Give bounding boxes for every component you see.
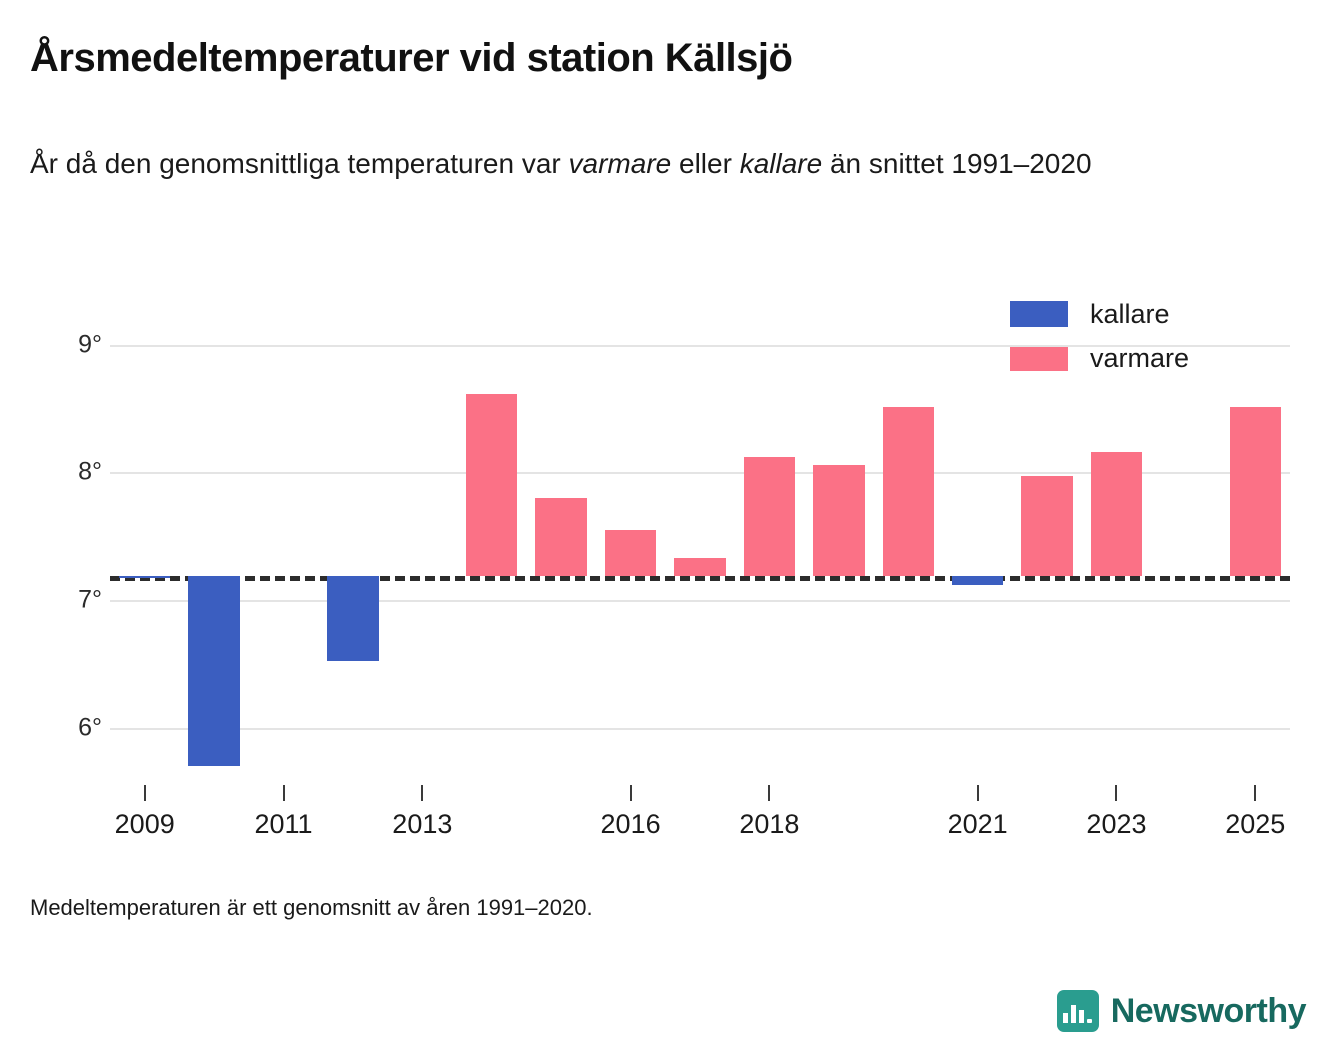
x-axis-tick-label: 2013 (392, 809, 452, 840)
x-axis-tick-2023 (1115, 785, 1117, 801)
bar-2018[interactable] (744, 457, 795, 576)
bar-2021[interactable] (952, 576, 1003, 585)
bar-2023[interactable] (1091, 452, 1142, 576)
x-axis-tick-2025 (1254, 785, 1256, 801)
bar-2020[interactable] (883, 407, 934, 575)
bar-2009[interactable] (119, 576, 170, 579)
x-axis-tick-2018 (768, 785, 770, 801)
subtitle-part-1: varmare (569, 148, 672, 179)
bar-2014[interactable] (466, 394, 517, 575)
x-axis-tick-2013 (421, 785, 423, 801)
subtitle-part-4: än snittet 1991–2020 (822, 148, 1091, 179)
chart-subtitle: År då den genomsnittliga temperaturen va… (30, 144, 1230, 184)
bar-chart-icon (1057, 990, 1099, 1032)
subtitle-part-3: kallare (740, 148, 822, 179)
x-axis: 20092011201320162018202120232025 (110, 785, 1290, 875)
x-axis-tick-label: 2011 (254, 809, 312, 840)
x-axis-tick-2009 (144, 785, 146, 801)
chart-page: Årsmedeltemperaturer vid station Källsjö… (0, 0, 1340, 1056)
x-axis-tick-2021 (977, 785, 979, 801)
y-axis-tick-label: 9° (50, 330, 102, 359)
y-axis-tick-label: 8° (50, 458, 102, 487)
bar-2019[interactable] (813, 465, 864, 576)
x-axis-tick-label: 2025 (1225, 809, 1285, 840)
newsworthy-logo: Newsworthy (1057, 990, 1306, 1032)
bar-2012[interactable] (327, 576, 378, 662)
x-axis-tick-label: 2018 (739, 809, 799, 840)
x-axis-tick-label: 2016 (601, 809, 661, 840)
bar-2016[interactable] (605, 530, 656, 576)
bar-2017[interactable] (674, 558, 725, 576)
brand-name: Newsworthy (1111, 992, 1306, 1031)
x-axis-tick-2011 (283, 785, 285, 801)
bar-2025[interactable] (1230, 407, 1281, 575)
bar-2022[interactable] (1021, 476, 1072, 576)
y-axis-tick-label: 6° (50, 713, 102, 742)
bar-chart-glyph (1063, 1003, 1092, 1023)
bar-2015[interactable] (535, 498, 586, 576)
bars-layer (110, 270, 1290, 870)
x-axis-tick-2016 (630, 785, 632, 801)
x-axis-tick-label: 2023 (1086, 809, 1146, 840)
subtitle-part-2: eller (671, 148, 739, 179)
page-title: Årsmedeltemperaturer vid station Källsjö (30, 36, 792, 81)
x-axis-tick-label: 2021 (948, 809, 1008, 840)
chart-plot-area: kallarevarmare 6°7°8°9° 2009201120132016… (0, 270, 1340, 870)
subtitle-part-0: År då den genomsnittliga temperaturen va… (30, 148, 569, 179)
y-axis-tick-label: 7° (50, 585, 102, 614)
chart-note: Medeltemperaturen är ett genomsnitt av å… (30, 895, 593, 921)
x-axis-tick-label: 2009 (115, 809, 175, 840)
bar-2010[interactable] (188, 576, 239, 766)
